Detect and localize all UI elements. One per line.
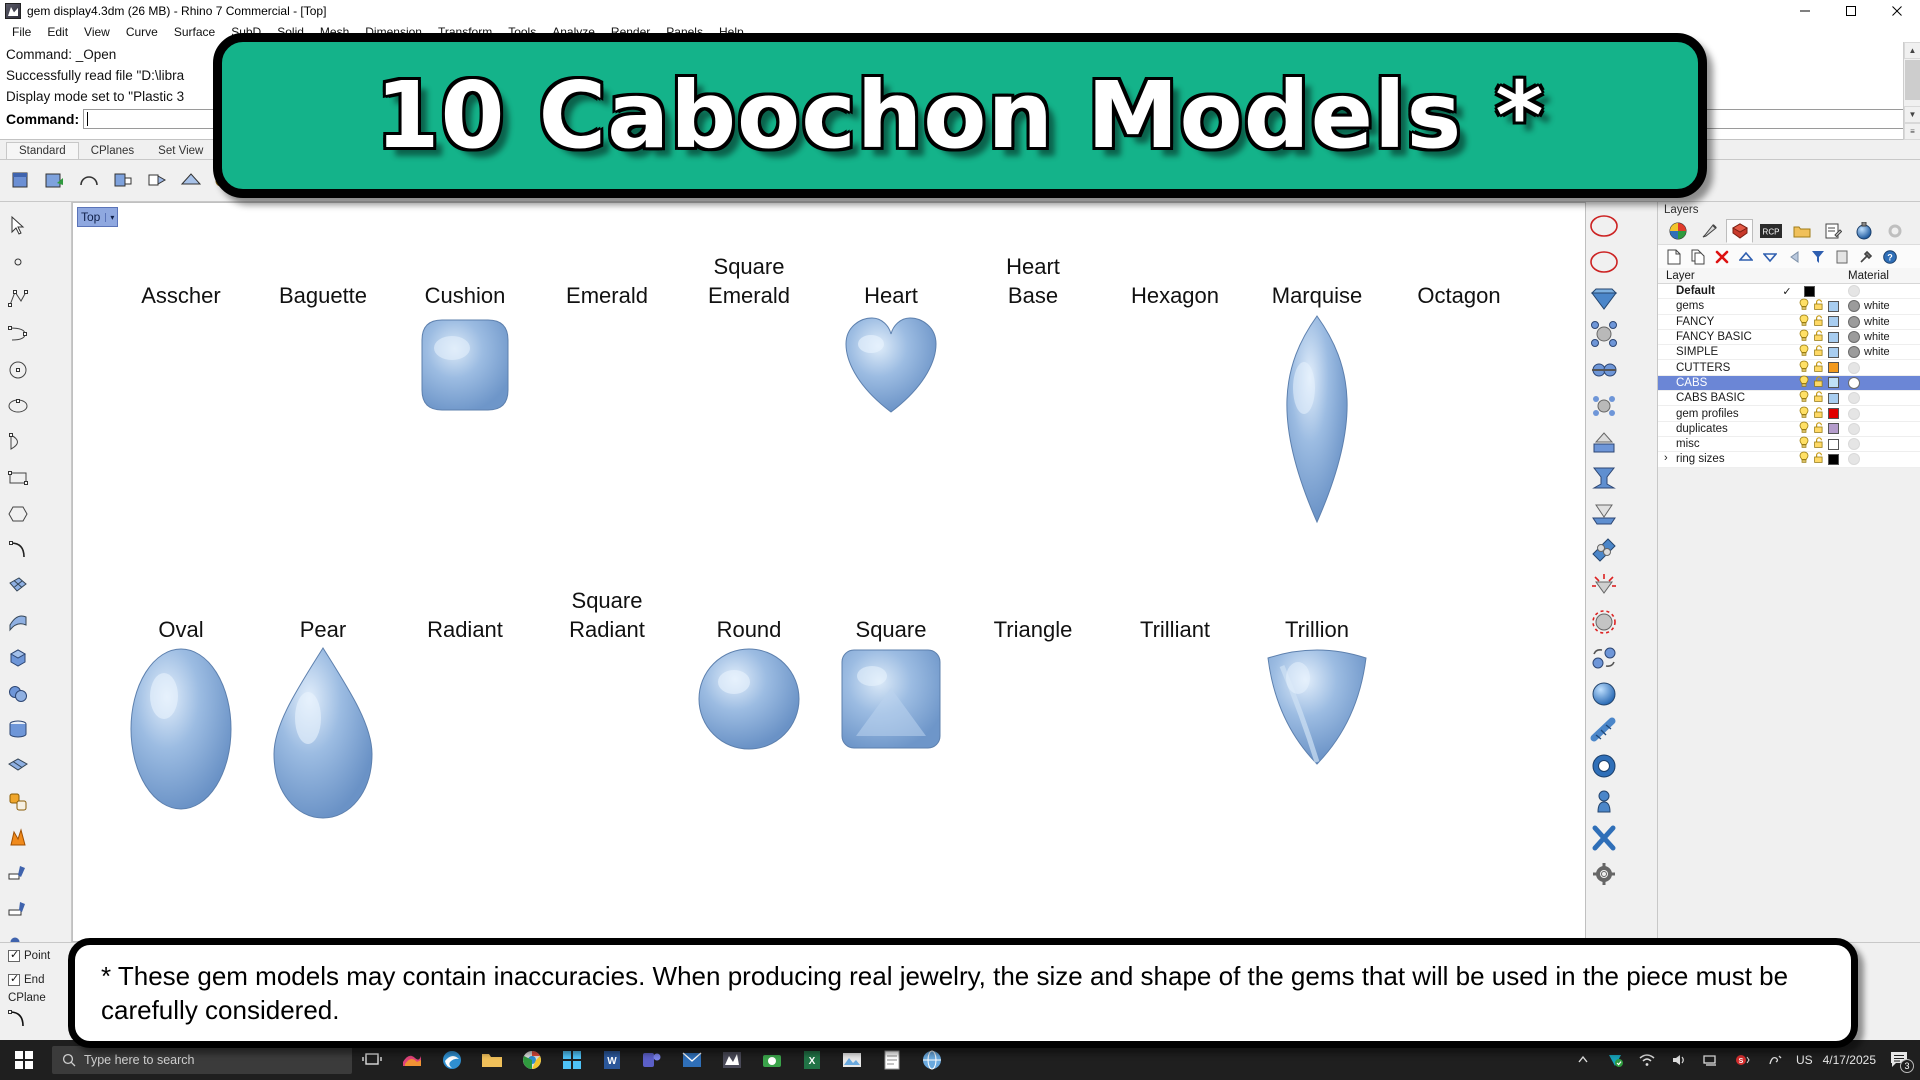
material-name: white bbox=[1864, 300, 1890, 312]
settings-gear-icon[interactable] bbox=[1586, 856, 1622, 892]
menu-view[interactable]: View bbox=[76, 23, 118, 41]
gem-item-marquise[interactable]: Marquise bbox=[1247, 281, 1387, 550]
gem-label: Oval bbox=[111, 615, 251, 644]
column-header-material: Material bbox=[1848, 270, 1920, 282]
osnap-end[interactable]: End bbox=[8, 974, 44, 986]
arc-icon[interactable] bbox=[0, 424, 36, 460]
tab-set-view[interactable]: Set View bbox=[146, 143, 215, 159]
layer-toggles bbox=[1798, 406, 1848, 422]
layer-name: ring sizes› bbox=[1658, 453, 1776, 465]
gem-shape-heart bbox=[821, 310, 961, 520]
delete-x-icon[interactable] bbox=[1586, 820, 1622, 856]
viewport-top[interactable]: Top ▾ Asscher Baguette Cushion bbox=[72, 202, 1586, 942]
gem-cutter-ring-icon[interactable] bbox=[1586, 604, 1622, 640]
gem-item-square-radiant[interactable]: Square Radiant bbox=[537, 586, 677, 644]
move-layer-down-icon[interactable] bbox=[1760, 247, 1780, 267]
svg-text:?: ? bbox=[1887, 252, 1893, 262]
new-file-icon[interactable] bbox=[4, 164, 38, 198]
layer-color-swatch[interactable] bbox=[1828, 316, 1839, 327]
layer-name: FANCY BASIC bbox=[1658, 331, 1776, 343]
right-panel: Layers RCP bbox=[1586, 202, 1920, 942]
notifications-icon[interactable]: 3 bbox=[1886, 1049, 1912, 1071]
material-sphere-icon bbox=[1848, 438, 1860, 450]
move-layer-up-icon[interactable] bbox=[1736, 247, 1756, 267]
layer-color-swatch[interactable] bbox=[1828, 454, 1839, 465]
search-placeholder: Type here to search bbox=[84, 1053, 194, 1067]
layer-name: gem profiles bbox=[1658, 408, 1776, 420]
boolean-union-icon[interactable] bbox=[0, 676, 36, 712]
svg-text:W: W bbox=[607, 1056, 617, 1067]
layer-color-swatch[interactable] bbox=[1828, 408, 1839, 419]
lightbulb-icon[interactable] bbox=[1798, 451, 1810, 467]
layer-toggles bbox=[1798, 451, 1848, 467]
gem-label: Cushion bbox=[395, 281, 535, 310]
gem-label: Hexagon bbox=[1105, 281, 1245, 310]
footnote-callout: * These gem models may contain inaccurac… bbox=[68, 938, 1858, 1048]
replace-gem-icon[interactable] bbox=[1586, 640, 1622, 676]
layer-toggles bbox=[1798, 390, 1848, 406]
chevron-down-icon[interactable]: ▾ bbox=[105, 213, 114, 222]
layer-row[interactable]: FANCYwhite bbox=[1658, 315, 1920, 330]
layer-material[interactable] bbox=[1848, 453, 1920, 465]
clock-date[interactable]: 4/17/2025 bbox=[1823, 1053, 1876, 1067]
cplane-indicator[interactable]: CPlane bbox=[8, 992, 46, 1004]
layers-toolbar: ? bbox=[1658, 244, 1920, 268]
lightbulb-icon[interactable] bbox=[1798, 406, 1810, 422]
minimize-button[interactable] bbox=[1782, 0, 1828, 22]
gem-item-radiant[interactable]: Radiant bbox=[395, 615, 535, 644]
window-title: gem display4.3dm (26 MB) - Rhino 7 Comme… bbox=[27, 4, 326, 18]
gem-label: Asscher bbox=[111, 281, 251, 310]
point-icon[interactable] bbox=[0, 244, 36, 280]
pin-icon[interactable] bbox=[1586, 784, 1622, 820]
lightbulb-icon[interactable] bbox=[1798, 329, 1810, 345]
layer-tools-icon[interactable] bbox=[1856, 247, 1876, 267]
layer-name: misc bbox=[1658, 438, 1776, 450]
onedrive-alert-icon[interactable]: S bbox=[1732, 1049, 1754, 1071]
select-arrow-icon[interactable] bbox=[0, 208, 36, 244]
gem-label: Pear bbox=[253, 615, 393, 644]
gem-shape-cushion bbox=[395, 310, 535, 520]
lightbulb-icon[interactable] bbox=[1798, 344, 1810, 360]
circle-red-2-icon[interactable] bbox=[1586, 244, 1622, 280]
gem-cutter-burst-icon[interactable] bbox=[1586, 568, 1622, 604]
window-titlebar: gem display4.3dm (26 MB) - Rhino 7 Comme… bbox=[0, 0, 1920, 22]
osnap-label: Point bbox=[24, 950, 50, 962]
rhino-app-icon bbox=[5, 3, 21, 19]
gem-label: Square bbox=[821, 615, 961, 644]
scrollbar-thumb[interactable] bbox=[1905, 60, 1920, 100]
gem-label: Triangle bbox=[963, 615, 1103, 644]
notification-badge: 3 bbox=[1900, 1059, 1914, 1073]
layer-row[interactable]: CABS BASIC bbox=[1658, 391, 1920, 406]
gem-item-cushion[interactable]: Cushion bbox=[395, 281, 535, 520]
layers-table-header: Layer Material bbox=[1658, 268, 1920, 284]
antivirus-shield-icon[interactable] bbox=[1604, 1049, 1626, 1071]
material-sphere-icon bbox=[1848, 300, 1860, 312]
checkbox-icon[interactable] bbox=[8, 974, 20, 986]
layer-row[interactable]: CABS bbox=[1658, 376, 1920, 391]
gem-four-prong-icon[interactable] bbox=[1586, 388, 1622, 424]
gem-prongs-square-icon[interactable] bbox=[1586, 316, 1622, 352]
gem-label: Square Radiant bbox=[537, 586, 677, 644]
gem-item-square[interactable]: Square bbox=[821, 615, 961, 854]
delete-layer-icon[interactable] bbox=[1712, 247, 1732, 267]
gem-seat-icon[interactable] bbox=[1586, 496, 1622, 532]
gem-label: Heart bbox=[821, 281, 961, 310]
circle-icon[interactable] bbox=[0, 352, 36, 388]
osnap-point[interactable]: Point bbox=[8, 950, 50, 962]
gem-item-trilliant[interactable]: Trilliant bbox=[1105, 615, 1245, 644]
channel-setting-icon[interactable] bbox=[1586, 532, 1622, 568]
layer-toggles bbox=[1798, 298, 1848, 314]
gem-label: Octagon bbox=[1389, 281, 1529, 310]
command-scrollbar[interactable]: ▲ ▼ ≡ bbox=[1903, 42, 1920, 140]
layers-row-container: Default✓gemswhiteFANCYwhiteFANCY BASICwh… bbox=[1658, 284, 1920, 468]
gem-label: Round bbox=[679, 615, 819, 644]
circle-red-icon[interactable] bbox=[1586, 208, 1622, 244]
layer-material[interactable]: white bbox=[1848, 331, 1920, 343]
layer-material[interactable]: white bbox=[1848, 316, 1920, 328]
current-layer-check[interactable]: ✓ bbox=[1776, 285, 1798, 298]
rectangle-icon[interactable] bbox=[0, 460, 36, 496]
help-icon[interactable]: ? bbox=[1880, 247, 1900, 267]
layer-toggles bbox=[1798, 421, 1848, 437]
layer-name: SIMPLE bbox=[1658, 346, 1776, 358]
material-sphere-icon bbox=[1848, 285, 1860, 297]
material-sphere-icon bbox=[1848, 377, 1860, 389]
gem-diamond-icon[interactable] bbox=[1586, 280, 1622, 316]
gem-two-prong-icon[interactable] bbox=[1586, 352, 1622, 388]
layer-material[interactable] bbox=[1848, 362, 1920, 374]
split-icon[interactable] bbox=[0, 892, 36, 928]
print-icon[interactable] bbox=[106, 164, 140, 198]
sphere-icon[interactable] bbox=[1586, 676, 1622, 712]
tab-render-icon[interactable] bbox=[1850, 219, 1877, 243]
curve-icon[interactable] bbox=[0, 316, 36, 352]
explode-icon[interactable] bbox=[0, 820, 36, 856]
gem-item-oval[interactable]: Oval bbox=[111, 615, 251, 854]
layer-name: gems bbox=[1658, 300, 1776, 312]
material-sphere-icon bbox=[1848, 408, 1860, 420]
collapse-layer-icon[interactable] bbox=[1784, 247, 1804, 267]
lightbulb-icon[interactable] bbox=[1798, 421, 1810, 437]
gem-shape-trillion bbox=[1247, 644, 1387, 854]
lightbulb-icon[interactable] bbox=[1798, 314, 1810, 330]
lightbulb-icon[interactable] bbox=[1798, 436, 1810, 452]
bezel-setting-icon[interactable] bbox=[1586, 424, 1622, 460]
search-icon bbox=[62, 1053, 76, 1067]
scroll-end-icon[interactable]: ≡ bbox=[1904, 123, 1920, 140]
padlock-icon[interactable] bbox=[1813, 344, 1825, 360]
layer-color-swatch[interactable] bbox=[1828, 439, 1839, 450]
menu-edit[interactable]: Edit bbox=[39, 23, 76, 41]
gem-label: Square Emerald bbox=[679, 252, 819, 310]
pen-settings-icon[interactable] bbox=[1764, 1049, 1786, 1071]
gem-shape-marquise bbox=[1247, 310, 1387, 550]
window-controls bbox=[1782, 0, 1920, 22]
fillet-curve-icon[interactable] bbox=[0, 532, 36, 568]
padlock-icon[interactable] bbox=[1813, 360, 1825, 376]
taskbar-search[interactable]: Type here to search bbox=[52, 1046, 352, 1074]
filter-layers-icon[interactable] bbox=[1808, 247, 1828, 267]
gem-item-pear[interactable]: Pear bbox=[253, 615, 393, 854]
trim-icon[interactable] bbox=[0, 856, 36, 892]
copy-icon[interactable] bbox=[174, 164, 208, 198]
language-indicator[interactable]: US bbox=[1796, 1053, 1813, 1067]
gem-grid: Asscher Baguette Cushion Em bbox=[73, 203, 1585, 941]
layer-row[interactable]: Default✓ bbox=[1658, 284, 1920, 299]
gem-shape-square bbox=[821, 644, 961, 854]
tab-display-icon[interactable] bbox=[1695, 219, 1722, 243]
twisted-wire-icon[interactable] bbox=[1586, 712, 1622, 748]
material-sphere-icon bbox=[1848, 346, 1860, 358]
polyline-icon[interactable] bbox=[0, 280, 36, 316]
gem-item-hexagon[interactable]: Hexagon bbox=[1105, 281, 1245, 310]
cut-icon[interactable] bbox=[140, 164, 174, 198]
material-name: white bbox=[1864, 316, 1890, 328]
lightbulb-icon[interactable] bbox=[1798, 360, 1810, 376]
viewport-label[interactable]: Top ▾ bbox=[77, 207, 118, 227]
surface-patch-icon[interactable] bbox=[0, 748, 36, 784]
layer-name: CABS bbox=[1658, 377, 1776, 389]
close-button[interactable] bbox=[1874, 0, 1920, 22]
layer-toggles bbox=[1798, 436, 1848, 452]
padlock-icon[interactable] bbox=[1813, 298, 1825, 314]
footnote-text: * These gem models may contain inaccurac… bbox=[101, 959, 1825, 1027]
padlock-icon[interactable] bbox=[1813, 421, 1825, 437]
layer-name: duplicates bbox=[1658, 423, 1776, 435]
panel-tabs: RCP bbox=[1658, 218, 1920, 244]
layer-row[interactable]: gem profiles bbox=[1658, 406, 1920, 421]
maximize-button[interactable] bbox=[1828, 0, 1874, 22]
layer-color-swatch[interactable] bbox=[1828, 362, 1839, 373]
layer-name: Default bbox=[1658, 285, 1776, 297]
network-icon[interactable] bbox=[1700, 1049, 1722, 1071]
layer-row[interactable]: misc bbox=[1658, 437, 1920, 452]
material-sphere-icon bbox=[1848, 423, 1860, 435]
layer-name: CABS BASIC bbox=[1658, 392, 1776, 404]
layer-sheet-icon[interactable] bbox=[1832, 247, 1852, 267]
tab-more-icon[interactable] bbox=[1881, 219, 1908, 243]
cylinder-icon[interactable] bbox=[0, 712, 36, 748]
layer-color-swatch[interactable] bbox=[1828, 332, 1839, 343]
layer-row[interactable]: duplicates bbox=[1658, 422, 1920, 437]
lightbulb-icon[interactable] bbox=[1798, 298, 1810, 314]
ellipse-icon[interactable] bbox=[0, 388, 36, 424]
layer-material[interactable] bbox=[1848, 392, 1920, 404]
layer-color-swatch[interactable] bbox=[1828, 393, 1839, 404]
layer-toggles bbox=[1798, 286, 1848, 297]
layer-toggles bbox=[1798, 329, 1848, 345]
gem-item-triangle[interactable]: Triangle bbox=[963, 615, 1103, 644]
gem-label: Trillion bbox=[1247, 615, 1387, 644]
material-name: white bbox=[1864, 346, 1890, 358]
svg-text:S: S bbox=[1739, 1058, 1744, 1065]
offset-curve-icon[interactable] bbox=[0, 1000, 36, 1036]
torus-ring-icon[interactable] bbox=[1586, 748, 1622, 784]
padlock-icon[interactable] bbox=[1813, 329, 1825, 345]
wifi-icon[interactable] bbox=[1636, 1049, 1658, 1071]
gem-tools-toolbar bbox=[1586, 202, 1658, 942]
gem-shape-oval bbox=[111, 644, 251, 854]
gem-item-asscher[interactable]: Asscher bbox=[111, 281, 251, 310]
padlock-icon[interactable] bbox=[1813, 406, 1825, 422]
viewport-label-text: Top bbox=[81, 210, 100, 224]
polygon-icon[interactable] bbox=[0, 496, 36, 532]
lightbulb-icon[interactable] bbox=[1798, 375, 1810, 391]
material-sphere-icon bbox=[1848, 392, 1860, 404]
layer-material[interactable] bbox=[1848, 285, 1920, 297]
gem-item-trillion[interactable]: Trillion bbox=[1247, 615, 1387, 854]
tab-rcp-icon[interactable]: RCP bbox=[1757, 219, 1784, 243]
duplicate-layer-icon[interactable] bbox=[1688, 247, 1708, 267]
title-banner: 10 Cabochon Models * bbox=[213, 33, 1707, 198]
gem-label: Marquise bbox=[1247, 281, 1387, 310]
left-toolbar: T bbox=[0, 202, 72, 942]
tab-standard[interactable]: Standard bbox=[6, 142, 79, 159]
layers-table: Layer Material Default✓gemswhiteFANCYwhi… bbox=[1658, 268, 1920, 468]
banner-text: 10 Cabochon Models * bbox=[376, 62, 1545, 169]
volume-icon[interactable] bbox=[1668, 1049, 1690, 1071]
layer-material[interactable] bbox=[1848, 438, 1920, 450]
gem-label: Heart Base bbox=[963, 252, 1103, 310]
menu-surface[interactable]: Surface bbox=[166, 23, 223, 41]
padlock-icon[interactable] bbox=[1813, 436, 1825, 452]
padlock-icon[interactable] bbox=[1813, 314, 1825, 330]
basket-setting-icon[interactable] bbox=[1586, 460, 1622, 496]
checkbox-icon[interactable] bbox=[8, 950, 20, 962]
layers-panel-title: Layers bbox=[1658, 202, 1920, 218]
layer-row[interactable]: FANCY BASICwhite bbox=[1658, 330, 1920, 345]
command-prompt-label: Command: bbox=[6, 111, 79, 127]
scroll-up-icon[interactable]: ▲ bbox=[1904, 42, 1920, 59]
tab-blocks-icon[interactable] bbox=[1788, 219, 1815, 243]
gem-label: Radiant bbox=[395, 615, 535, 644]
material-sphere-icon bbox=[1848, 331, 1860, 343]
column-header-layer: Layer bbox=[1658, 270, 1776, 282]
layer-toggles bbox=[1798, 360, 1848, 376]
puzzle-icon[interactable] bbox=[0, 784, 36, 820]
new-layer-icon[interactable] bbox=[1664, 247, 1684, 267]
gem-item-heart-base[interactable]: Heart Base bbox=[963, 252, 1103, 310]
gem-label: Trilliant bbox=[1105, 615, 1245, 644]
extrude-surface-icon[interactable] bbox=[0, 604, 36, 640]
layer-row[interactable]: SIMPLEwhite bbox=[1658, 345, 1920, 360]
svg-text:X: X bbox=[809, 1056, 816, 1067]
tab-layers-icon[interactable] bbox=[1726, 219, 1753, 243]
gem-shape-pear bbox=[253, 644, 393, 854]
open-file-icon[interactable] bbox=[38, 164, 72, 198]
layer-material[interactable] bbox=[1848, 423, 1920, 435]
text-caret bbox=[87, 112, 88, 126]
layer-name: CUTTERS bbox=[1658, 362, 1776, 374]
layer-toggles bbox=[1798, 314, 1848, 330]
layers-panel: Layers RCP bbox=[1658, 202, 1920, 942]
layer-toggles bbox=[1798, 375, 1848, 391]
system-tray: S US 4/17/2025 3 bbox=[1572, 1049, 1920, 1071]
layer-toggles bbox=[1798, 344, 1848, 360]
gem-label: Baguette bbox=[253, 281, 393, 310]
gem-label: Emerald bbox=[537, 281, 677, 310]
layer-color-swatch[interactable] bbox=[1828, 423, 1839, 434]
layer-color-swatch[interactable] bbox=[1828, 301, 1839, 312]
menu-file[interactable]: File bbox=[4, 23, 39, 41]
gem-item-baguette[interactable]: Baguette bbox=[253, 281, 393, 310]
lightbulb-icon[interactable] bbox=[1798, 390, 1810, 406]
tab-properties-icon[interactable] bbox=[1664, 219, 1691, 243]
surface-from-points-icon[interactable] bbox=[0, 568, 36, 604]
gem-shape-round bbox=[679, 644, 819, 854]
layer-name: FANCY bbox=[1658, 316, 1776, 328]
layer-row[interactable]: ring sizes› bbox=[1658, 452, 1920, 467]
show-hidden-icons-icon[interactable] bbox=[1572, 1049, 1594, 1071]
menu-curve[interactable]: Curve bbox=[118, 23, 166, 41]
box-icon[interactable] bbox=[0, 640, 36, 676]
material-sphere-icon bbox=[1848, 453, 1860, 465]
layer-color-swatch[interactable] bbox=[1828, 377, 1839, 388]
scroll-down-icon[interactable]: ▼ bbox=[1904, 106, 1920, 123]
gem-item-octagon[interactable]: Octagon bbox=[1389, 281, 1529, 310]
material-sphere-icon bbox=[1848, 316, 1860, 328]
layer-color-swatch[interactable] bbox=[1804, 286, 1815, 297]
padlock-icon[interactable] bbox=[1813, 451, 1825, 467]
layer-color-swatch[interactable] bbox=[1828, 347, 1839, 358]
tab-notes-icon[interactable] bbox=[1819, 219, 1846, 243]
svg-text:RCP: RCP bbox=[1762, 228, 1779, 237]
tab-cplanes[interactable]: CPlanes bbox=[79, 143, 146, 159]
osnap-label: End bbox=[24, 974, 44, 986]
layer-material[interactable] bbox=[1848, 377, 1920, 389]
start-button-icon[interactable] bbox=[0, 1040, 48, 1080]
material-name: white bbox=[1864, 331, 1890, 343]
layer-row[interactable]: CUTTERS bbox=[1658, 360, 1920, 375]
layer-material[interactable] bbox=[1848, 408, 1920, 420]
layer-material[interactable]: white bbox=[1848, 300, 1920, 312]
expander-icon[interactable]: › bbox=[1664, 453, 1668, 464]
gem-item-round[interactable]: Round bbox=[679, 615, 819, 854]
padlock-icon[interactable] bbox=[1813, 375, 1825, 391]
material-sphere-icon bbox=[1848, 362, 1860, 374]
gem-item-square-emerald[interactable]: Square Emerald bbox=[679, 252, 819, 310]
gem-item-emerald[interactable]: Emerald bbox=[537, 281, 677, 310]
gem-item-heart[interactable]: Heart bbox=[821, 281, 961, 520]
layer-row[interactable]: gemswhite bbox=[1658, 299, 1920, 314]
save-file-icon[interactable] bbox=[72, 164, 106, 198]
layer-material[interactable]: white bbox=[1848, 346, 1920, 358]
padlock-icon[interactable] bbox=[1813, 390, 1825, 406]
